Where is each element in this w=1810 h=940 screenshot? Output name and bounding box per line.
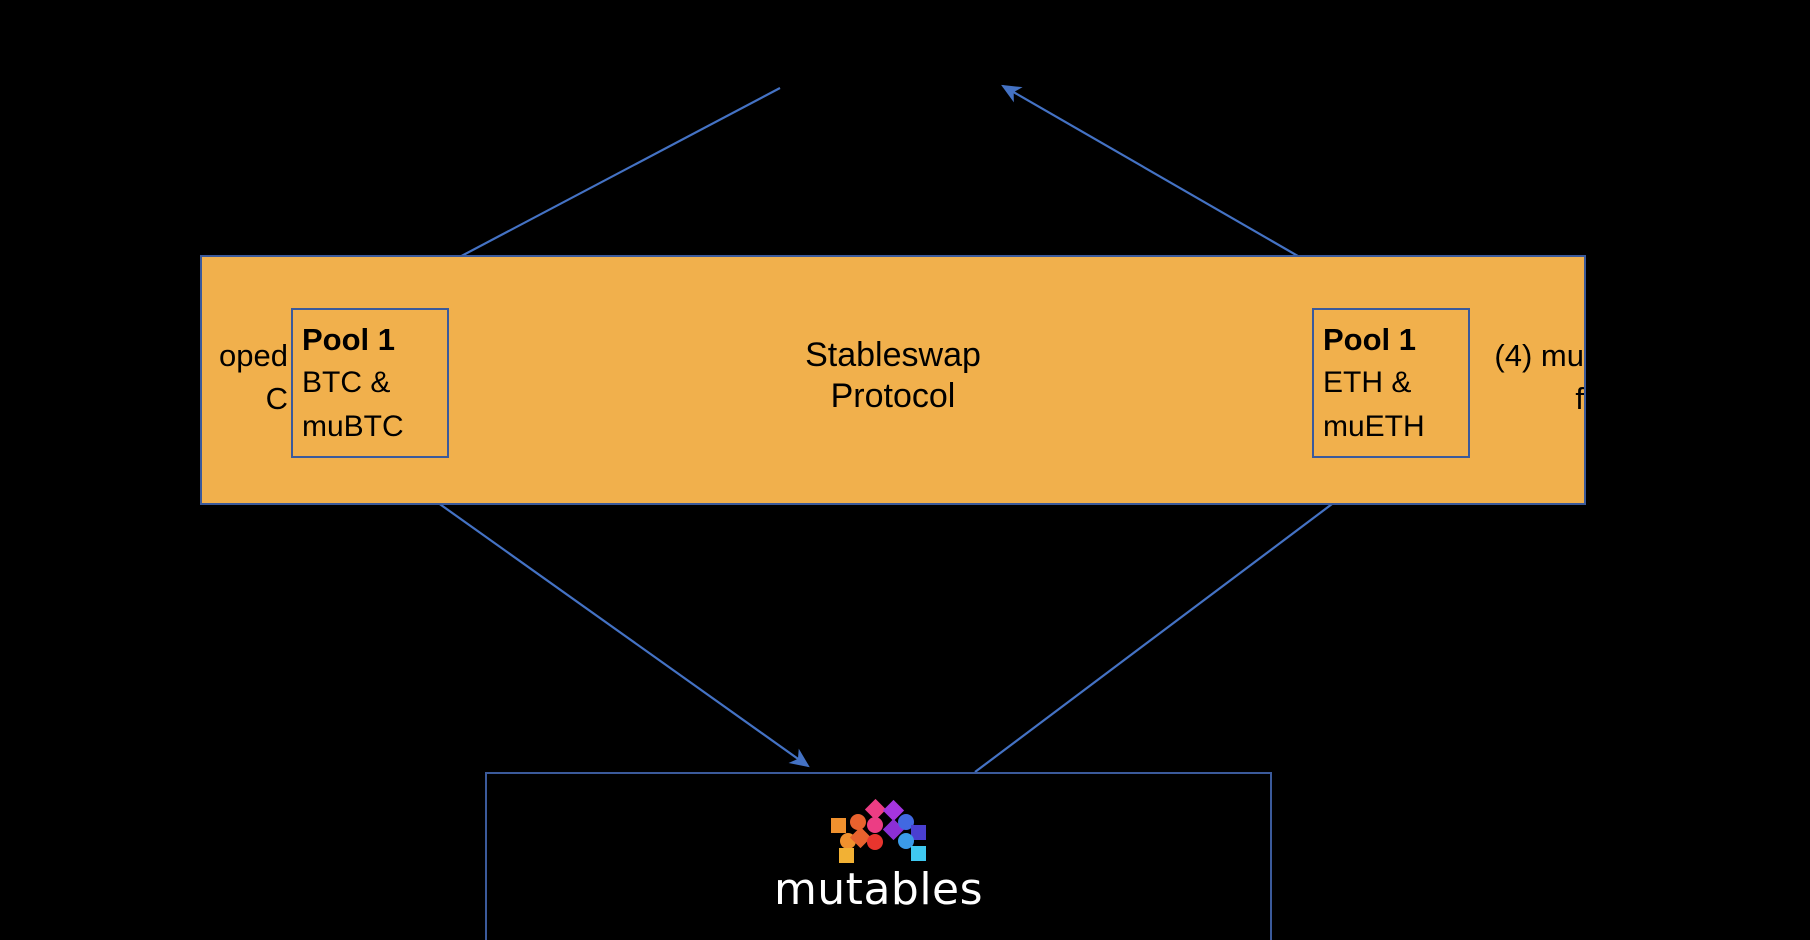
logo-circle-red-1 — [867, 834, 883, 850]
pool-box-btc[interactable]: Pool 1 BTC & muBTC — [291, 308, 449, 458]
logo-square-orange-1 — [831, 818, 846, 833]
pool-eth-line1: ETH & — [1323, 361, 1468, 405]
pool-btc-line2: muBTC — [302, 405, 447, 449]
right-clipped-caption: (4) mu f — [1482, 334, 1584, 420]
pool-box-eth[interactable]: Pool 1 ETH & muETH — [1312, 308, 1470, 458]
left-clipped-caption: oped C — [202, 334, 288, 420]
brand-wordmark: mutables — [487, 865, 1270, 915]
logo-square-cyan-1 — [911, 846, 926, 861]
diagram-canvas: Stableswap Protocol oped C (4) mu f Pool… — [0, 0, 1810, 940]
logo-square-yellow-1 — [839, 848, 854, 863]
logo-circle-pink-1 — [867, 817, 883, 833]
pool-btc-line1: BTC & — [302, 361, 447, 405]
pool-eth-line2: muETH — [1323, 405, 1468, 449]
brand-box: mutables — [485, 772, 1272, 940]
brand-inner: mutables — [487, 800, 1270, 915]
arrow-bottom-right-up — [975, 462, 1388, 772]
mutables-logo-icon — [831, 800, 927, 856]
pool-eth-title: Pool 1 — [1323, 318, 1468, 361]
logo-circle-orange-2 — [850, 814, 866, 830]
pool-btc-title: Pool 1 — [302, 318, 447, 361]
